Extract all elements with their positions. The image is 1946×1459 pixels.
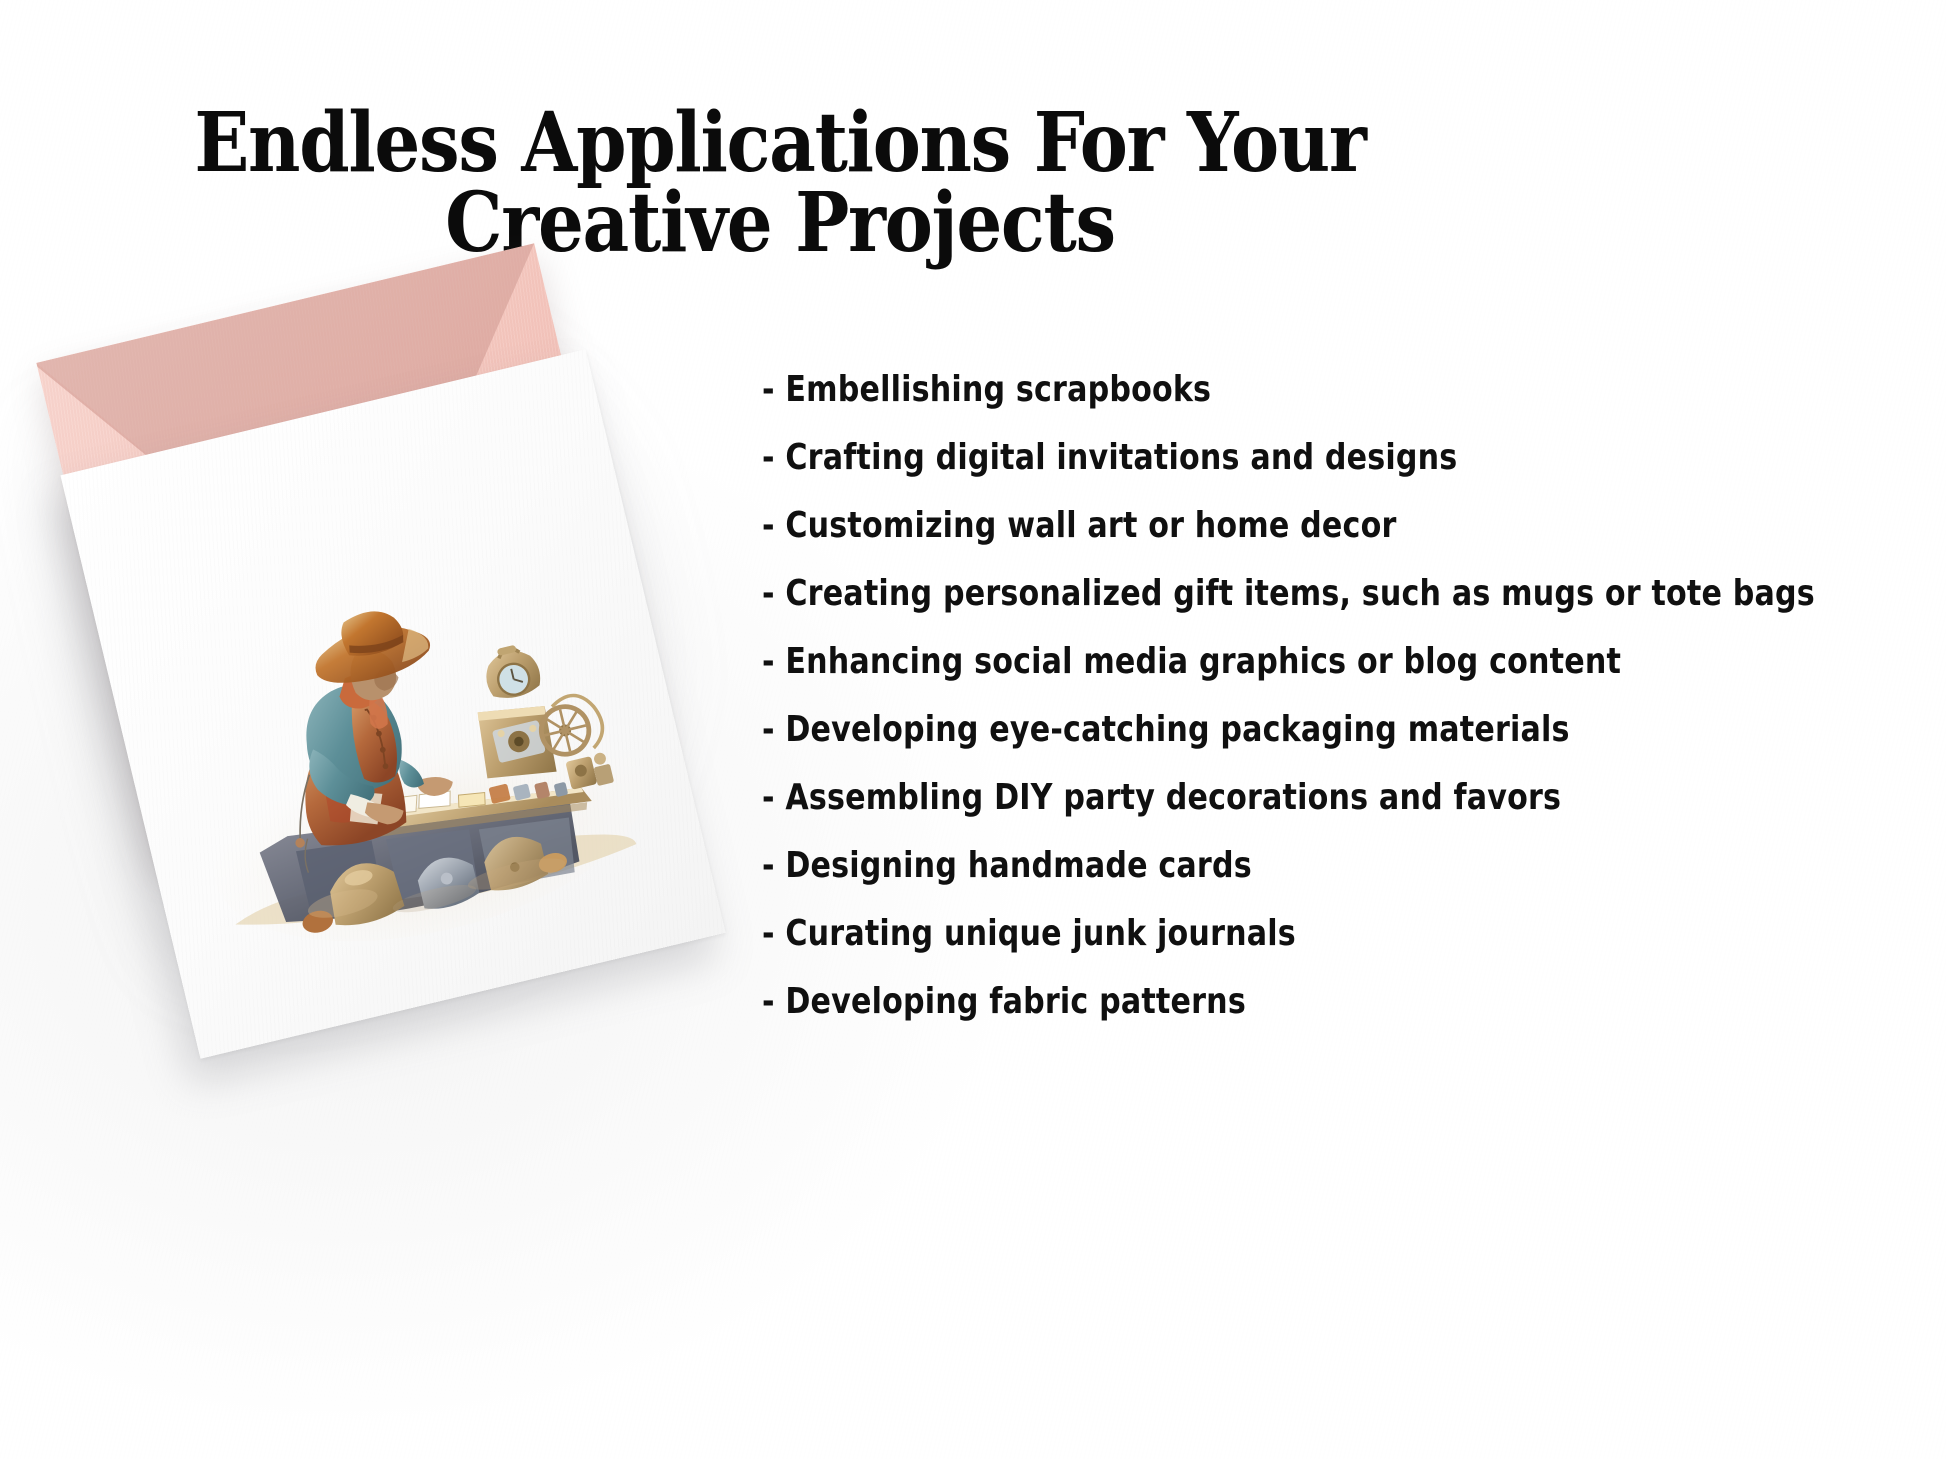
greeting-card-mockup — [55, 272, 775, 1062]
list-item: - Crafting digital invitations and desig… — [762, 440, 1832, 476]
list-item: - Creating personalized gift items, such… — [762, 576, 1832, 612]
applications-list: - Embellishing scrapbooks - Crafting dig… — [762, 372, 1912, 1020]
list-item: - Customizing wall art or home decor — [762, 508, 1832, 544]
list-item: - Enhancing social media graphics or blo… — [762, 644, 1832, 680]
list-item: - Curating unique junk journals — [762, 916, 1832, 952]
list-item: - Developing fabric patterns — [762, 984, 1832, 1020]
list-item: - Embellishing scrapbooks — [762, 372, 1832, 408]
promo-graphic-page: Endless Applications For Your Creative P… — [0, 0, 1946, 1459]
list-item: - Assembling DIY party decorations and f… — [762, 780, 1832, 816]
list-item: - Developing eye-catching packaging mate… — [762, 712, 1832, 748]
list-item: - Designing handmade cards — [762, 848, 1832, 884]
